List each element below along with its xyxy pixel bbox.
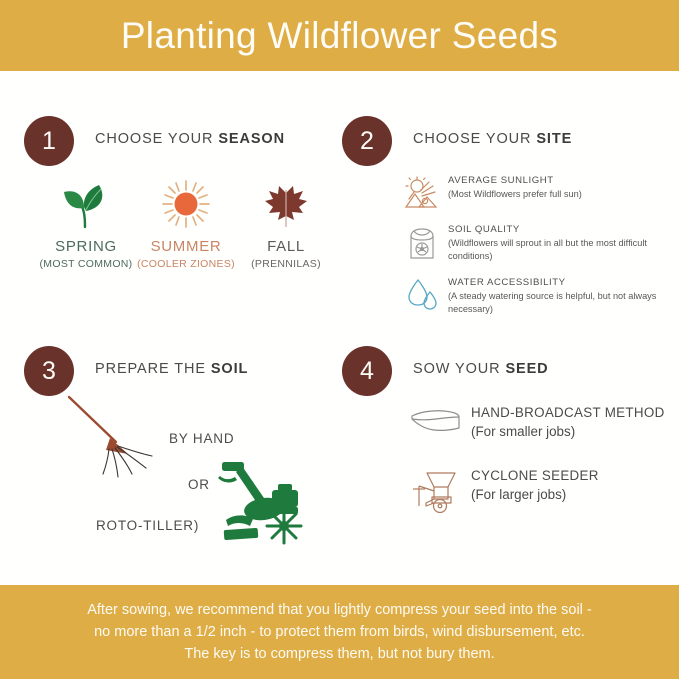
hand-icon xyxy=(407,404,465,436)
sowing-method-title: HAND-BROADCAST METHOD xyxy=(471,404,665,422)
step-1-title-prefix: CHOOSE YOUR xyxy=(95,131,218,147)
prepare-method-separator-or: OR xyxy=(188,477,210,492)
criteria-title: WATER ACCESSIBILITY xyxy=(448,276,672,289)
season-sub-fall: (PRENNILAS) xyxy=(236,258,336,270)
site-criteria-list: AVERAGE SUNLIGHT (Most Wildflowers prefe… xyxy=(402,174,672,329)
step-4-header: 4 SOW YOUR SEED xyxy=(342,346,672,402)
step-4-title-strong: SEED xyxy=(505,361,548,377)
step-3-prepare-the-soil: 3 PREPARE THE SOIL BY HAND OR xyxy=(24,346,339,402)
step-4-number-badge: 4 xyxy=(342,346,392,396)
page-footer: After sowing, we recommend that you ligh… xyxy=(0,585,679,679)
list-item: CYCLONE SEEDER (For larger jobs) xyxy=(407,467,679,513)
step-3-title-prefix: PREPARE THE xyxy=(95,361,211,377)
rake-icon xyxy=(66,394,176,489)
season-sub-spring: (MOST COMMON) xyxy=(36,258,136,270)
step-1-title-strong: SEASON xyxy=(218,131,285,147)
sowing-method-title: CYCLONE SEEDER xyxy=(471,467,599,485)
criteria-sub: (A steady watering source is helpful, bu… xyxy=(448,290,672,316)
season-name-spring: SPRING xyxy=(36,238,136,255)
season-option-spring[interactable]: SPRING (MOST COMMON) xyxy=(36,174,136,270)
step-3-title-strong: SOIL xyxy=(211,361,248,377)
list-item-text: HAND-BROADCAST METHOD (For smaller jobs) xyxy=(465,404,665,441)
list-item: WATER ACCESSIBILITY (A steady watering s… xyxy=(402,276,672,316)
sowing-method-list: HAND-BROADCAST METHOD (For smaller jobs) xyxy=(407,404,679,539)
step-2-title: CHOOSE YOUR SITE xyxy=(413,131,572,147)
soil-bag-icon xyxy=(402,223,442,261)
cyclone-seeder-icon xyxy=(407,467,465,513)
infographic-page: Planting Wildflower Seeds 1 CHOOSE YOUR … xyxy=(0,0,679,679)
footer-note: After sowing, we recommend that you ligh… xyxy=(29,599,650,665)
list-item-text: WATER ACCESSIBILITY (A steady watering s… xyxy=(442,276,672,316)
list-item: AVERAGE SUNLIGHT (Most Wildflowers prefe… xyxy=(402,174,672,210)
step-2-choose-your-site: 2 CHOOSE YOUR SITE xyxy=(342,116,672,172)
sowing-method-sub: (For smaller jobs) xyxy=(471,423,665,441)
season-option-summer[interactable]: SUMMER (COOLER ZIONES) xyxy=(136,174,236,270)
step-1-choose-your-season: 1 CHOOSE YOUR SEASON SPRING (MOST COMMO xyxy=(24,116,339,172)
criteria-sub: (Most Wildflowers prefer full sun) xyxy=(448,188,582,201)
sun-icon xyxy=(136,174,236,230)
list-item: SOIL QUALITY (Wildflowers will sprout in… xyxy=(402,223,672,263)
prepare-method-roto-tiller: ROTO-TILLER) xyxy=(96,518,199,533)
step-4-title: SOW YOUR SEED xyxy=(413,361,549,377)
step-3-title: PREPARE THE SOIL xyxy=(95,361,248,377)
list-item-text: AVERAGE SUNLIGHT (Most Wildflowers prefe… xyxy=(442,174,582,201)
step-2-header: 2 CHOOSE YOUR SITE xyxy=(342,116,672,172)
water-drop-icon xyxy=(402,276,442,312)
step-2-title-strong: SITE xyxy=(536,131,572,147)
sowing-method-sub: (For larger jobs) xyxy=(471,486,599,504)
prepare-method-by-hand: BY HAND xyxy=(169,431,234,446)
leaf-icon xyxy=(36,174,136,230)
season-sub-summer: (COOLER ZIONES) xyxy=(136,258,236,270)
page-title: Planting Wildflower Seeds xyxy=(121,15,558,57)
maple-leaf-icon xyxy=(236,174,336,230)
step-2-number-badge: 2 xyxy=(342,116,392,166)
season-options: SPRING (MOST COMMON) xyxy=(36,174,336,270)
step-3-number-badge: 3 xyxy=(24,346,74,396)
footer-line-1: After sowing, we recommend that you ligh… xyxy=(87,599,592,621)
sunlight-icon xyxy=(402,174,442,210)
list-item-text: CYCLONE SEEDER (For larger jobs) xyxy=(465,467,599,504)
step-2-title-prefix: CHOOSE YOUR xyxy=(413,131,536,147)
step-4-title-prefix: SOW YOUR xyxy=(413,361,505,377)
footer-line-3: The key is to compress them, but not bur… xyxy=(87,643,592,665)
step-1-number-badge: 1 xyxy=(24,116,74,166)
steps-grid: 1 CHOOSE YOUR SEASON SPRING (MOST COMMO xyxy=(0,71,679,585)
criteria-title: AVERAGE SUNLIGHT xyxy=(448,174,582,187)
roto-tiller-icon xyxy=(212,458,312,555)
season-option-fall[interactable]: FALL (PRENNILAS) xyxy=(236,174,336,270)
list-item: HAND-BROADCAST METHOD (For smaller jobs) xyxy=(407,404,679,441)
step-1-title: CHOOSE YOUR SEASON xyxy=(95,131,285,147)
criteria-title: SOIL QUALITY xyxy=(448,223,672,236)
step-1-header: 1 CHOOSE YOUR SEASON xyxy=(24,116,339,172)
footer-line-2: no more than a 1/2 inch - to protect the… xyxy=(87,621,592,643)
page-header: Planting Wildflower Seeds xyxy=(0,0,679,71)
step-4-sow-your-seed: 4 SOW YOUR SEED HAND-BROADCAST M xyxy=(342,346,672,402)
list-item-text: SOIL QUALITY (Wildflowers will sprout in… xyxy=(442,223,672,263)
season-name-summer: SUMMER xyxy=(136,238,236,255)
season-name-fall: FALL xyxy=(236,238,336,255)
criteria-sub: (Wildflowers will sprout in all but the … xyxy=(448,237,672,263)
